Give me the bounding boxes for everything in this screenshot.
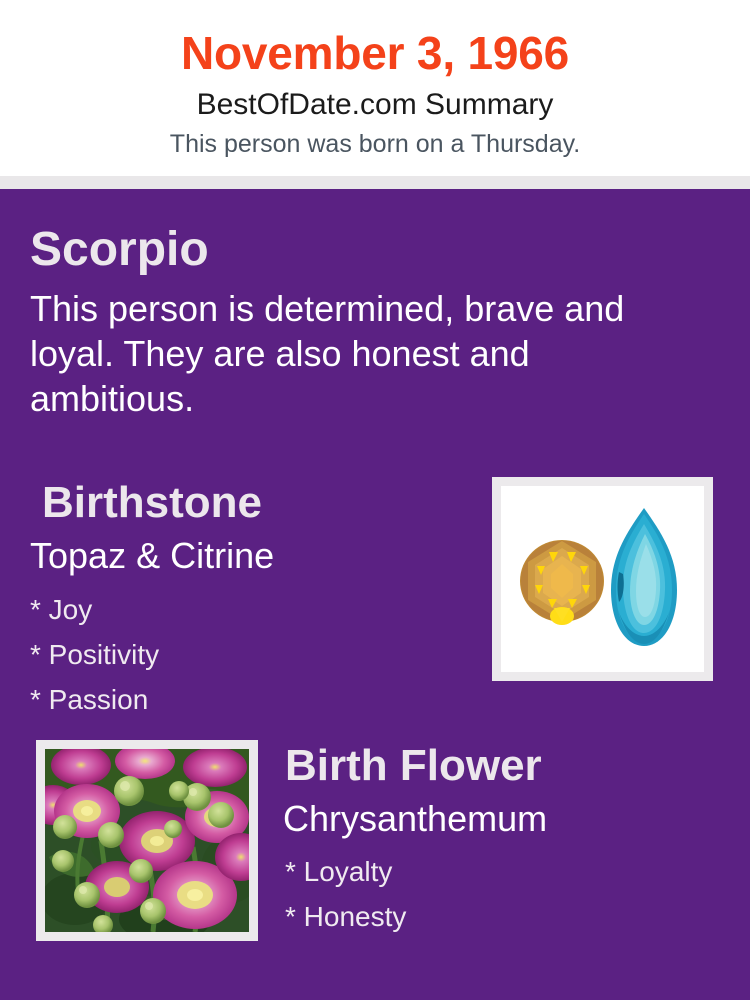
birth-flower-chrysanthemum-photo (36, 740, 258, 941)
list-item: * Loyalty (283, 849, 683, 894)
zodiac-sign-title: Scorpio (30, 222, 209, 278)
zodiac-description: This person is determined, brave and loy… (30, 286, 695, 421)
chrysanthemum-illustration (45, 749, 249, 932)
birthstone-title: Birthstone (42, 477, 262, 529)
header: November 3, 1966 BestOfDate.com Summary … (0, 0, 750, 176)
photo-inner (45, 749, 249, 932)
weekday-line: This person was born on a Thursday. (0, 128, 750, 160)
birthstone-name: Topaz & Citrine (30, 534, 274, 578)
birth-flower-name: Chrysanthemum (283, 797, 547, 841)
birth-flower-traits-list: * Loyalty * Honesty (283, 849, 683, 939)
birthstone-gems-photo (492, 477, 713, 681)
header-divider (0, 176, 750, 189)
birth-flower-title: Birth Flower (285, 740, 542, 792)
summary-panel: Scorpio This person is determined, brave… (0, 189, 750, 1000)
page-title-date: November 3, 1966 (0, 24, 750, 82)
list-item: * Passion (30, 677, 450, 722)
site-name-subtitle: BestOfDate.com Summary (0, 86, 750, 124)
date-summary-card: November 3, 1966 BestOfDate.com Summary … (0, 0, 750, 1000)
photo-inner (501, 486, 704, 672)
list-item: * Joy (30, 587, 450, 632)
list-item: * Honesty (283, 894, 683, 939)
list-item: * Positivity (30, 632, 450, 677)
gemstones-illustration (501, 486, 704, 672)
birthstone-traits-list: * Joy * Positivity * Passion (30, 587, 450, 722)
